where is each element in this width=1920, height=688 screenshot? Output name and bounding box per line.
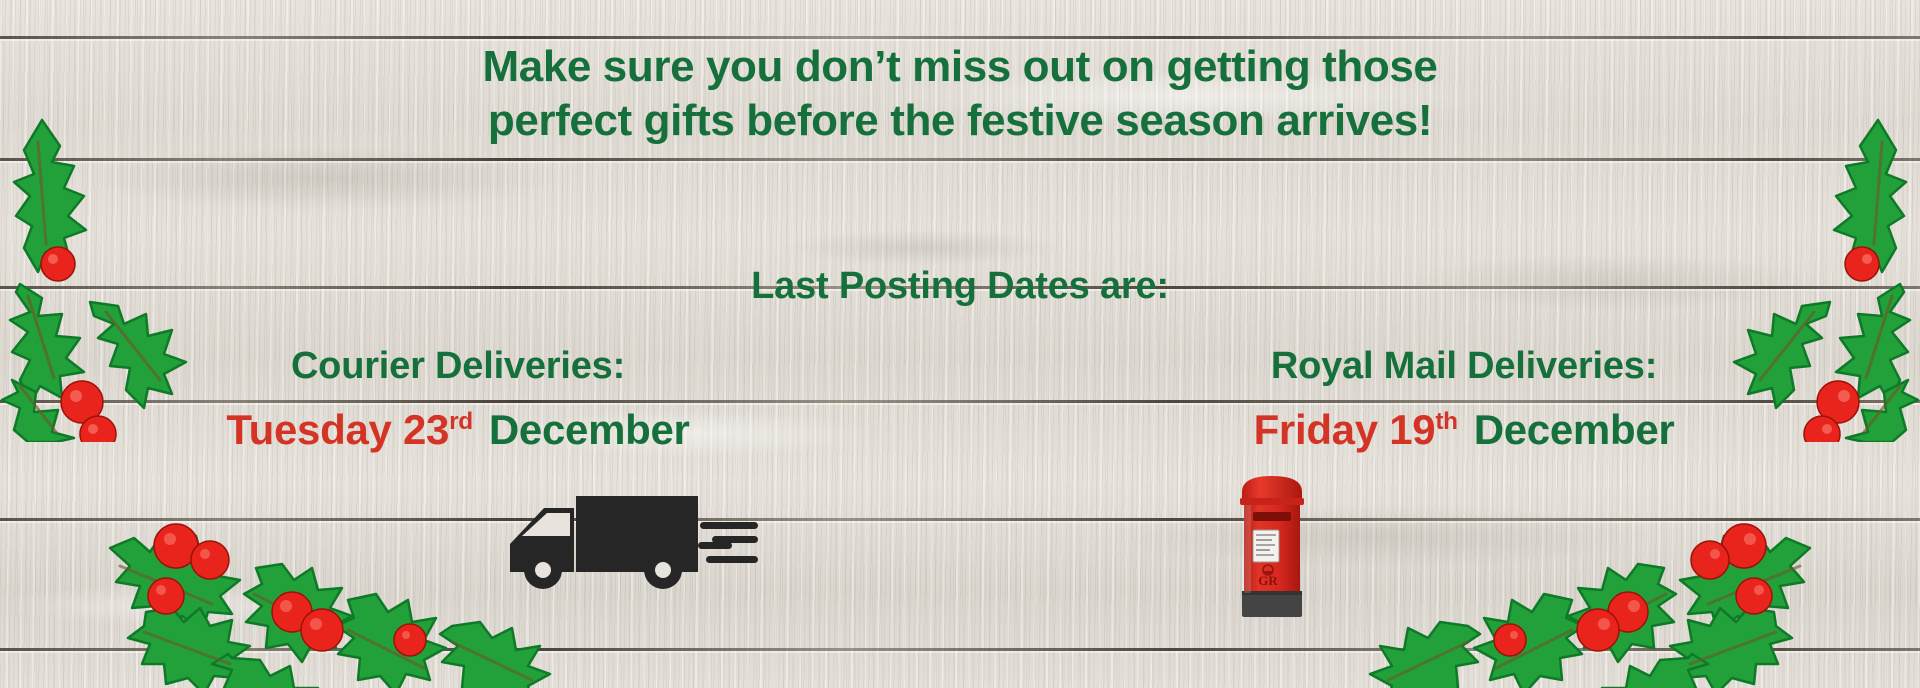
royal-mail-month: December xyxy=(1474,406,1675,453)
delivery-truck-icon xyxy=(500,480,760,590)
royal-mail-date: Friday 19thDecember xyxy=(984,406,1920,454)
courier-ordinal: rd xyxy=(449,408,473,435)
royal-mail-heading: Royal Mail Deliveries: xyxy=(984,345,1920,388)
royal-mail-day: Friday xyxy=(1254,406,1378,453)
royal-mail-column: Royal Mail Deliveries: Friday 19thDecemb… xyxy=(960,345,1920,454)
post-box-icon: GR xyxy=(1232,472,1312,622)
delivery-columns: Courier Deliveries: Tuesday 23rdDecember… xyxy=(0,345,1920,454)
courier-day: Tuesday xyxy=(226,406,391,453)
courier-heading: Courier Deliveries: xyxy=(0,345,938,388)
royal-mail-ordinal: th xyxy=(1435,408,1457,435)
headline: Make sure you don’t miss out on getting … xyxy=(0,40,1920,148)
courier-date-number: 23 xyxy=(403,406,449,453)
courier-month: December xyxy=(489,406,690,453)
headline-line-2: perfect gifts before the festive season … xyxy=(0,94,1920,148)
postbox-cipher: GR xyxy=(1258,573,1278,588)
headline-line-1: Make sure you don’t miss out on getting … xyxy=(0,40,1920,94)
subheading: Last Posting Dates are: xyxy=(0,265,1920,308)
courier-date: Tuesday 23rdDecember xyxy=(0,406,938,454)
christmas-posting-dates-banner: Make sure you don’t miss out on getting … xyxy=(0,0,1920,688)
courier-column: Courier Deliveries: Tuesday 23rdDecember xyxy=(0,345,960,454)
royal-mail-date-number: 19 xyxy=(1389,406,1435,453)
